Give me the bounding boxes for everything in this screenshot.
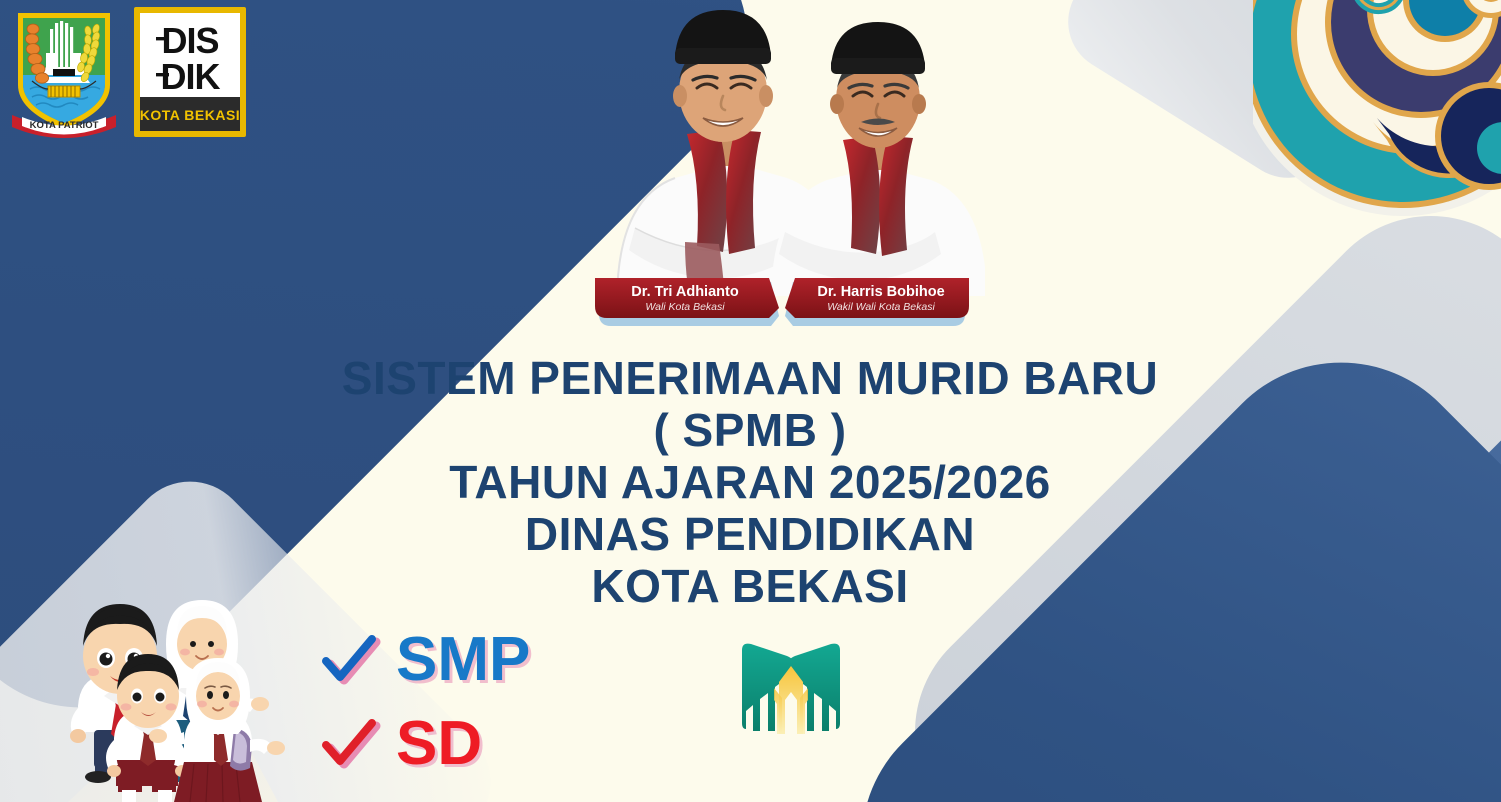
logo-group: KOTA PATRIOT DIS DIK KOTA BEKASI bbox=[8, 7, 246, 139]
title-line-1: SISTEM PENERIMAAN MURID BARU bbox=[250, 352, 1250, 404]
batik-mega-mendung-icon bbox=[1253, 0, 1501, 226]
title-line-3: TAHUN AJARAN 2025/2026 bbox=[250, 456, 1250, 508]
level-item-sd: SD bbox=[316, 702, 576, 786]
disdik-line1: DIS bbox=[161, 20, 218, 61]
crest-ribbon-text: KOTA PATRIOT bbox=[30, 120, 99, 131]
official-role-1: Wakil Wali Kota Bekasi bbox=[827, 301, 935, 313]
education-levels-list: SMP SD bbox=[316, 618, 576, 786]
disdik-logo-icon: DIS DIK KOTA BEKASI bbox=[134, 7, 246, 137]
check-icon-smp bbox=[316, 627, 382, 693]
level-label-sd: SD bbox=[396, 713, 482, 775]
crest-kota-bekasi-icon: KOTA PATRIOT bbox=[8, 7, 120, 139]
spmb-green-logo-icon bbox=[728, 632, 854, 758]
level-item-smp: SMP bbox=[316, 618, 576, 702]
officials-photo: Dr. Tri Adhianto Wali Kota Bekasi Dr. Ha… bbox=[575, 0, 985, 336]
students-illustration bbox=[38, 578, 288, 802]
official-name-0: Dr. Tri Adhianto bbox=[631, 284, 739, 300]
official-role-0: Wali Kota Bekasi bbox=[645, 301, 725, 313]
portrait-harris-bobihoe bbox=[771, 22, 985, 296]
poster-title: SISTEM PENERIMAAN MURID BARU ( SPMB ) TA… bbox=[250, 352, 1250, 612]
poster-canvas: KOTA PATRIOT DIS DIK KOTA BEKASI bbox=[0, 0, 1501, 802]
official-name-1: Dr. Harris Bobihoe bbox=[817, 284, 944, 300]
disdik-line2: DIK bbox=[161, 56, 221, 97]
disdik-footer: KOTA BEKASI bbox=[140, 107, 240, 123]
officials-nameplates: Dr. Tri Adhianto Wali Kota Bekasi Dr. Ha… bbox=[593, 274, 971, 332]
level-label-smp: SMP bbox=[396, 629, 530, 691]
title-line-5: KOTA BEKASI bbox=[250, 560, 1250, 612]
title-line-2: ( SPMB ) bbox=[250, 404, 1250, 456]
title-line-4: DINAS PENDIDIKAN bbox=[250, 508, 1250, 560]
check-icon-sd bbox=[316, 711, 382, 777]
